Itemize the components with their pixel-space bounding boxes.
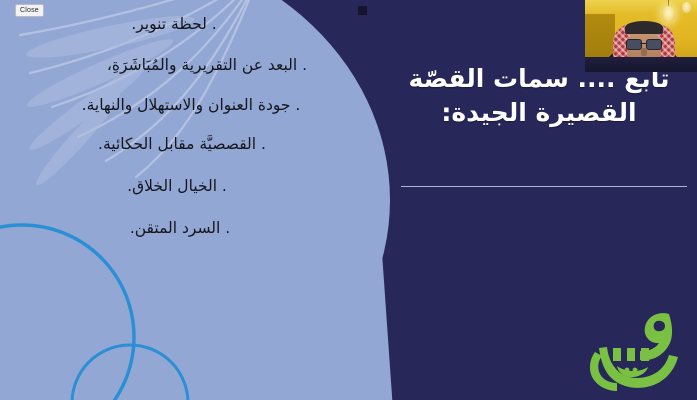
webcam-person-cap: [625, 21, 663, 34]
webcam-ceiling-lamp-icon: [662, 6, 675, 22]
slide-title-line-2: القصيرة الجيدة:: [389, 96, 689, 130]
presentation-screen: . لحظة تنوير. . البعد عن التقريرية والمُ…: [0, 0, 697, 400]
square-marker-icon: [358, 6, 367, 15]
glasses-lens-left: [626, 39, 642, 50]
brand-logo-icon: [583, 304, 691, 396]
webcam-ceiling: [585, 0, 697, 14]
slide-title: تابع .... سمات القصّة القصيرة الجيدة:: [389, 62, 689, 130]
list-item: . الخيال الخلاق.: [0, 178, 354, 196]
list-item: . جودة العنوان والاستهلال والنهاية.: [0, 97, 382, 115]
list-item: . القصصيَّة مقابل الحكائية.: [0, 136, 364, 154]
close-button[interactable]: Close: [15, 4, 44, 17]
presenter-webcam-thumbnail[interactable]: [585, 0, 697, 72]
webcam-person-glasses-icon: [626, 39, 662, 48]
list-item: . السرد المتقن.: [0, 220, 360, 238]
glasses-lens-right: [646, 39, 662, 50]
webcam-desk: [585, 57, 697, 72]
list-item: . البعد عن التقريرية والمُبَاشَرَةِ،: [0, 57, 414, 75]
title-divider: [401, 186, 687, 187]
slide-bullet-list: . لحظة تنوير. . البعد عن التقريرية والمُ…: [0, 16, 370, 258]
list-item: . لحظة تنوير.: [0, 16, 348, 34]
webcam-ceiling-lamp-secondary-icon: [682, 2, 691, 13]
webcam-person-nose: [641, 48, 647, 56]
